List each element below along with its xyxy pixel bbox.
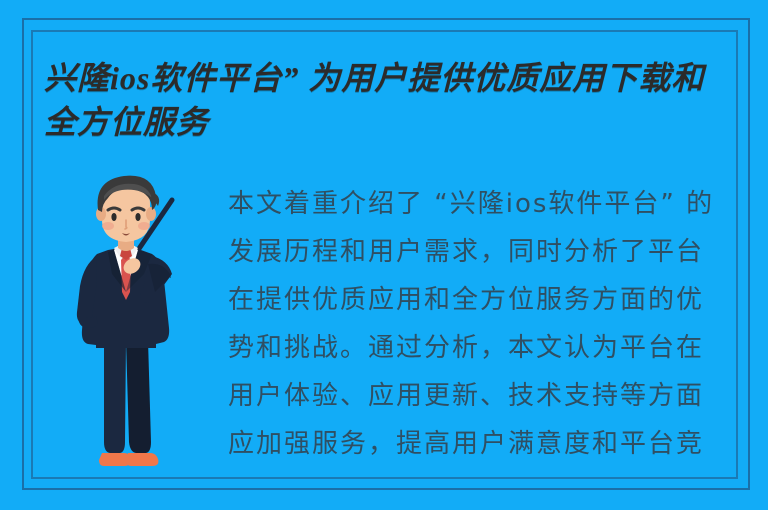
page-title: 兴隆ios软件平台” 为用户提供优质应用下载和全方位服务: [44, 56, 730, 144]
article-card: 兴隆ios软件平台” 为用户提供优质应用下载和全方位服务: [0, 0, 768, 510]
businessman-illustration: [52, 170, 232, 480]
article-summary: 本文着重介绍了 “兴隆ios软件平台” 的发展历程和用户需求，同时分析了平台在提…: [228, 180, 724, 468]
shoe-right: [126, 453, 158, 466]
